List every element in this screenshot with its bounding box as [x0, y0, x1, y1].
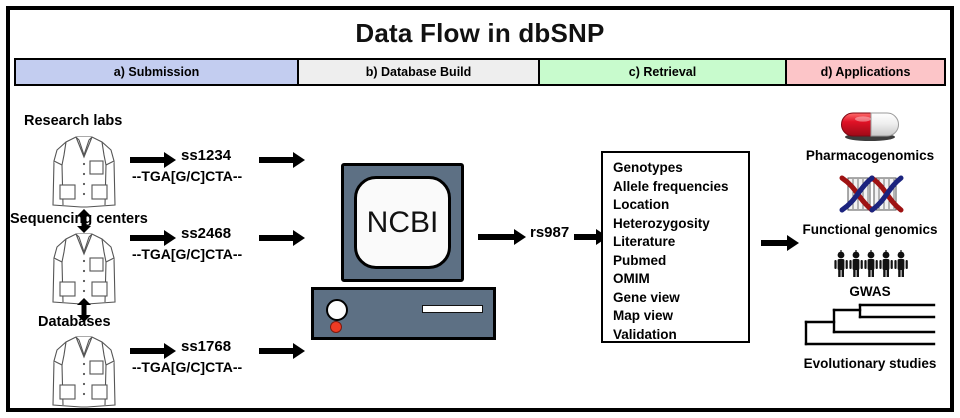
lab-coat-icon [50, 331, 118, 414]
application-label: Functional genomics [790, 222, 950, 237]
submission-flank-3: --TGA[G/C]CTA-- [132, 359, 242, 375]
phase-segment-retrieval: c) Retrieval [540, 60, 787, 84]
application-label: GWAS [790, 284, 950, 299]
submission-flank-2: --TGA[G/C]CTA-- [132, 246, 242, 262]
retrieval-item[interactable]: OMIM [613, 270, 748, 289]
submission-ss-id-1: ss1234 [181, 147, 231, 164]
retrieval-item[interactable]: Allele frequencies [613, 178, 748, 197]
status-led-icon [330, 321, 342, 333]
application-functional-genomics: Functional genomics [790, 172, 950, 237]
source-label-sequencing-centers: Sequencing centers [10, 211, 148, 227]
rs-id-label: rs987 [530, 224, 569, 241]
application-label: Evolutionary studies [786, 356, 954, 371]
retrieval-item[interactable]: Location [613, 196, 748, 215]
phase-label-applications: d) Applications [821, 65, 911, 79]
phase-label-database-build: b) Database Build [366, 65, 472, 79]
pill-capsule-icon [790, 108, 950, 147]
source-label-databases: Databases [38, 314, 111, 330]
phase-label-submission: a) Submission [114, 65, 199, 79]
retrieval-list-box: Genotypes Allele frequencies Location He… [601, 151, 750, 343]
submission-ss-id-3: ss1768 [181, 338, 231, 355]
population-people-icon [790, 250, 950, 283]
retrieval-item[interactable]: Genotypes [613, 159, 748, 178]
retrieval-item[interactable]: Literature [613, 233, 748, 252]
computer-tower [311, 287, 496, 340]
figure-title: Data Flow in dbSNP [0, 18, 960, 49]
phase-segment-database-build: b) Database Build [299, 60, 540, 84]
retrieval-item[interactable]: Heterozygosity [613, 215, 748, 234]
retrieval-item[interactable]: Pubmed [613, 252, 748, 271]
phase-label-retrieval: c) Retrieval [629, 65, 696, 79]
power-knob-icon [326, 299, 348, 321]
phase-bar: a) Submission b) Database Build c) Retri… [14, 58, 946, 86]
figure-canvas: Data Flow in dbSNP a) Submission b) Data… [0, 0, 960, 418]
drive-slot [422, 305, 483, 313]
retrieval-item[interactable]: Gene view [613, 289, 748, 308]
dna-helix-icon [790, 172, 950, 221]
retrieval-item[interactable]: Map view [613, 307, 748, 326]
application-evolutionary-studies: Evolutionary studies [786, 302, 954, 371]
submission-flank-1: --TGA[G/C]CTA-- [132, 168, 242, 184]
phase-segment-submission: a) Submission [16, 60, 299, 84]
submission-ss-id-2: ss2468 [181, 225, 231, 242]
ncbi-label: NCBI [367, 206, 439, 240]
lab-coat-icon [50, 131, 118, 214]
application-gwas: GWAS [790, 250, 950, 299]
monitor-screen: NCBI [354, 176, 451, 269]
retrieval-item[interactable]: Validation [613, 326, 748, 345]
phylogenetic-tree-icon [786, 302, 954, 355]
computer-monitor: NCBI [341, 163, 464, 282]
source-label-research-labs: Research labs [24, 113, 122, 129]
phase-segment-applications: d) Applications [787, 60, 944, 84]
application-label: Pharmacogenomics [790, 148, 950, 163]
application-pharmacogenomics: Pharmacogenomics [790, 108, 950, 163]
